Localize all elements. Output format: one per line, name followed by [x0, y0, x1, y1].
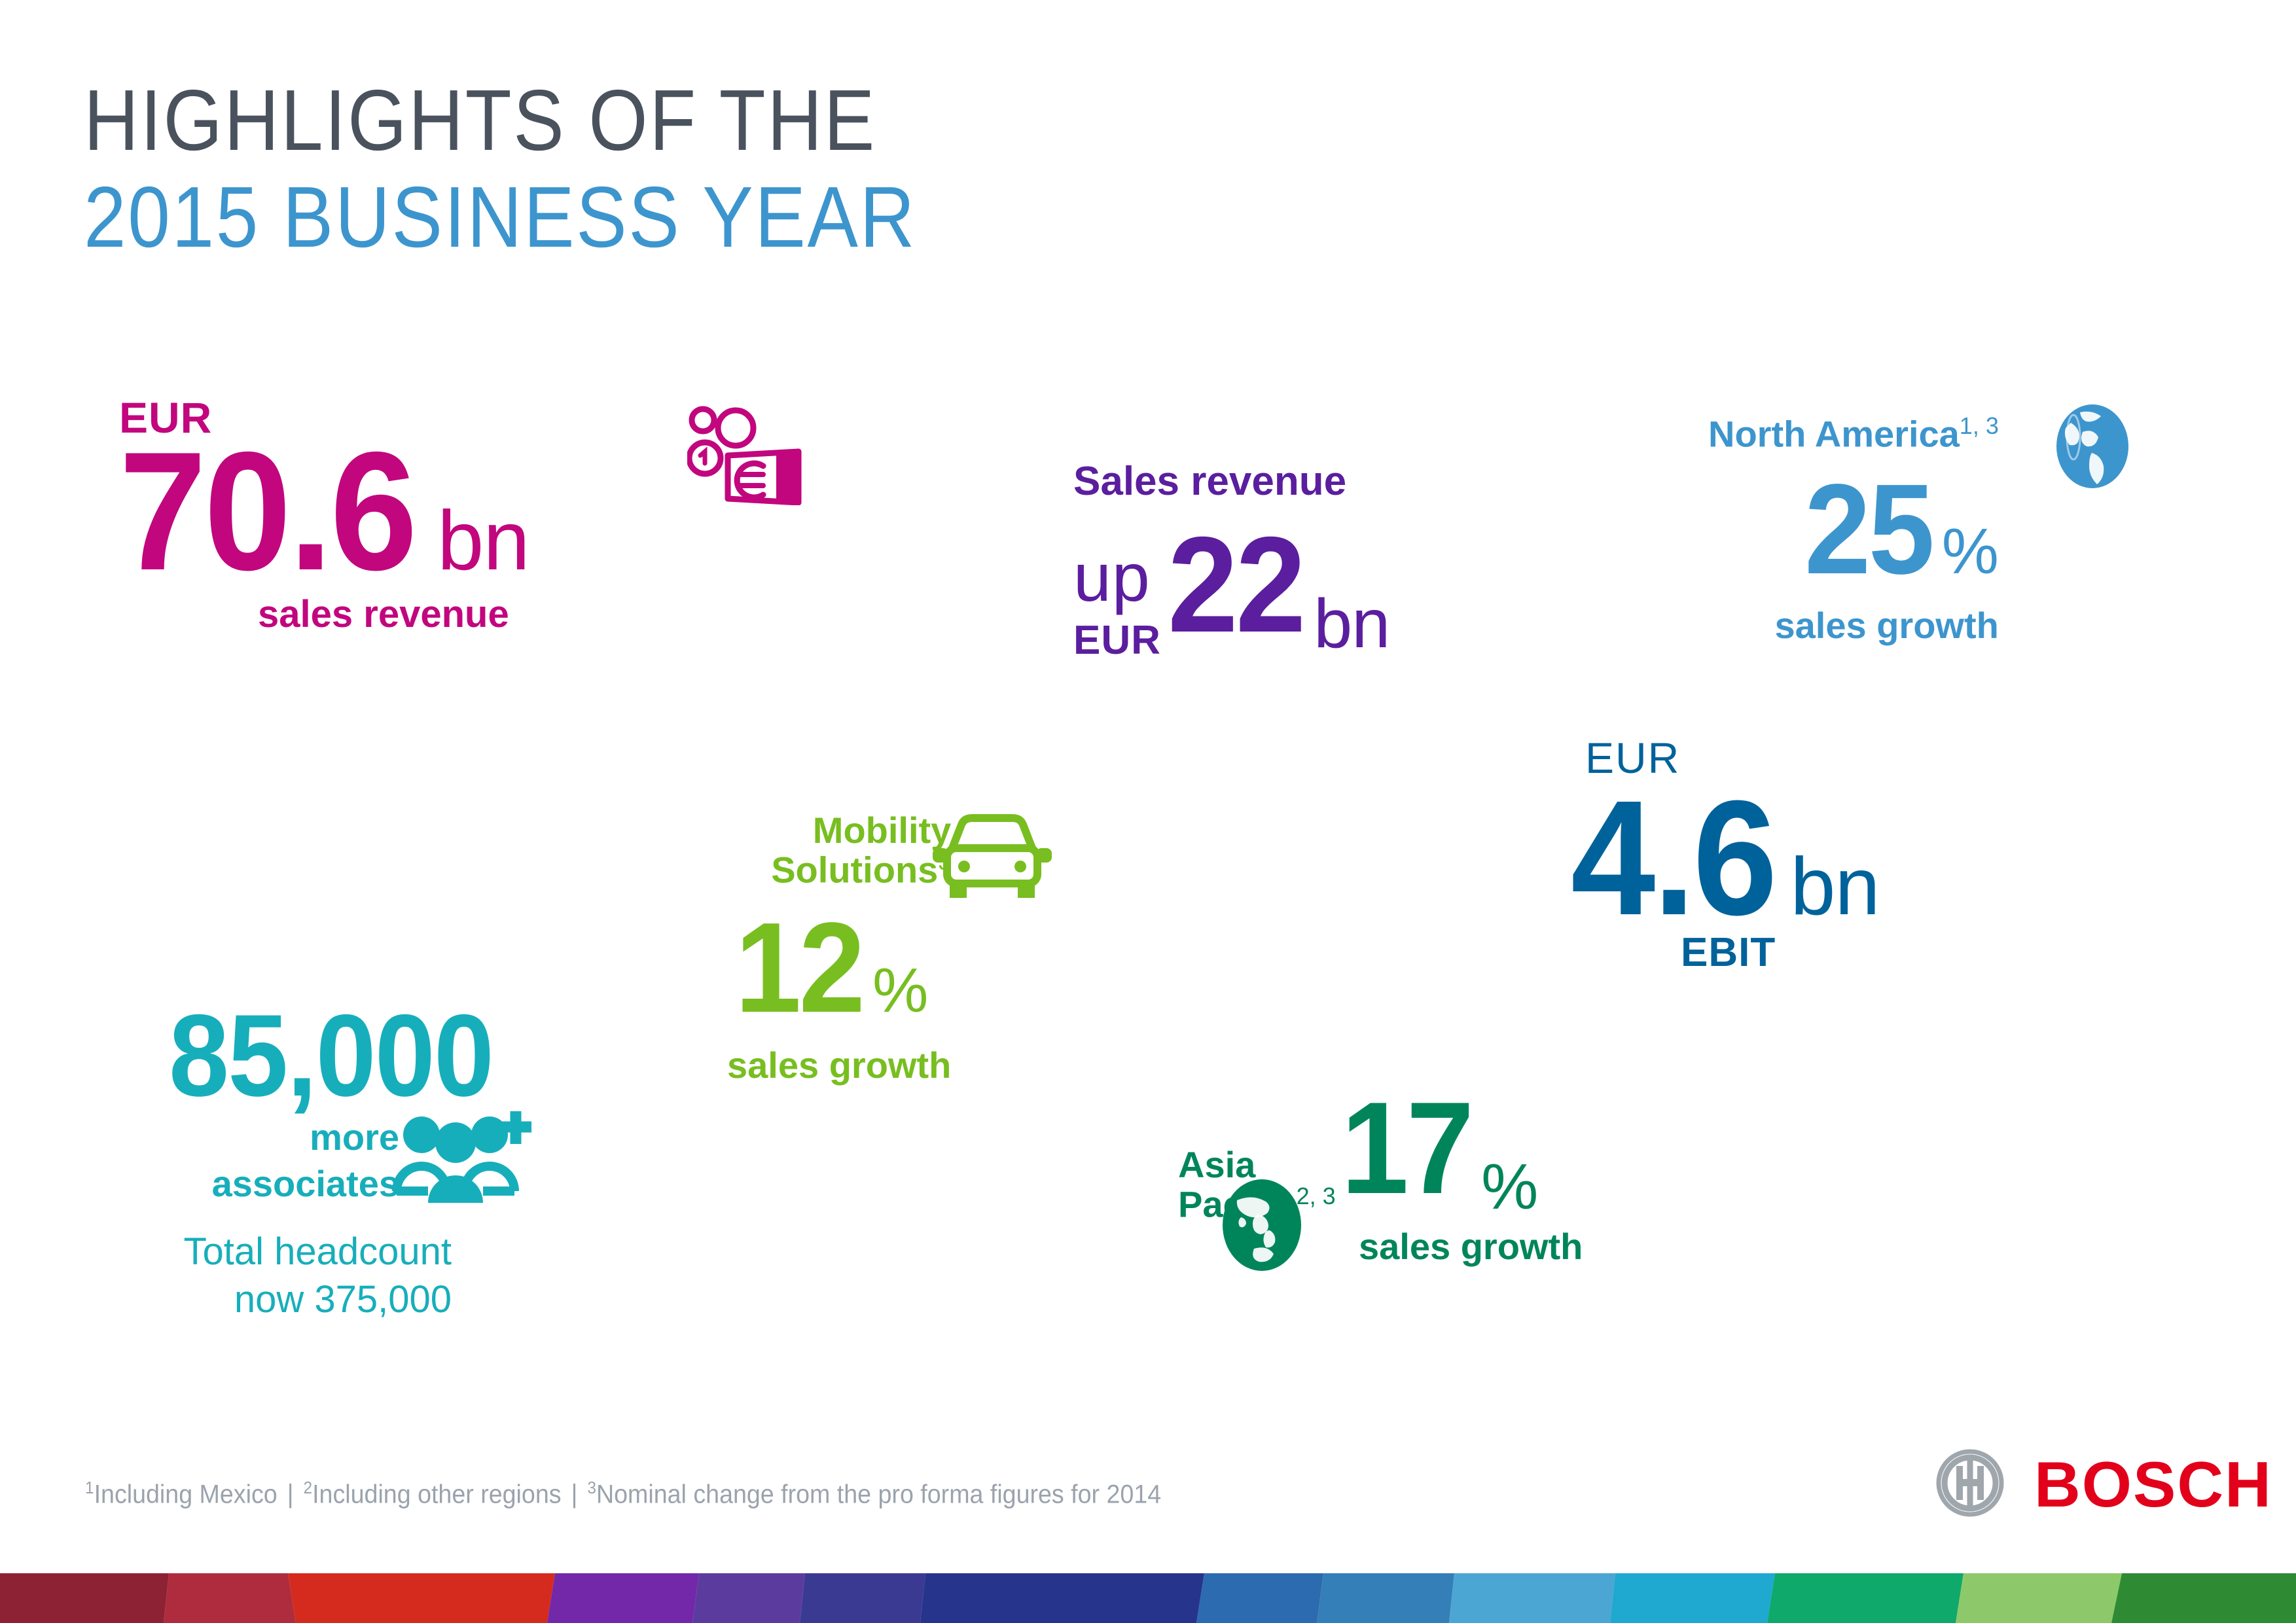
asia-pacific-caption: sales growth: [1359, 1225, 1583, 1268]
globe-americas-icon: [2054, 403, 2131, 493]
mobility-value-row: 12 %: [735, 894, 951, 1041]
supergraphic-band: [547, 1573, 699, 1623]
associates-subtext-line-2: now 375,000: [164, 1276, 452, 1324]
footnote-3-text: Nominal change from the pro forma figure…: [596, 1480, 1161, 1508]
ebit-unit: bn: [1791, 849, 1880, 924]
stat-associates: 85,000 more associates Total headcount n…: [137, 988, 517, 1323]
footnote-3-marker: 3: [587, 1478, 596, 1497]
bosch-armature-icon: [1936, 1449, 2004, 1520]
asia-pacific-value: 17: [1341, 1073, 1471, 1224]
associates-subtext: Total headcount now 375,000: [164, 1228, 452, 1323]
stat-asia-pacific: Asia Pacific2, 3 17 % sales growth: [1178, 1073, 1583, 1268]
north-america-value-row: 25 %: [1708, 455, 1999, 603]
ebit-value: 4.6: [1571, 783, 1775, 933]
supergraphic-band: [692, 1573, 805, 1623]
supergraphic-band: [0, 1573, 169, 1623]
footnote-separator-1: |: [278, 1480, 304, 1508]
north-america-label: North America: [1708, 414, 1960, 455]
revenue-up-grid: up EUR 22 bn: [1073, 507, 1390, 664]
ebit-value-row: 4.6 bn: [1571, 783, 1879, 933]
supergraphic-band: [164, 1573, 296, 1623]
page-title: HIGHLIGHTS OF THE 2015 BUSINESS YEAR: [84, 72, 1030, 266]
revenue-unit: bn: [437, 503, 529, 580]
stat-sales-revenue-up: Sales revenue up EUR 22 bn: [1073, 458, 1390, 664]
supergraphic-band: [2111, 1573, 2296, 1623]
bosch-logo: BOSCH: [1936, 1448, 2272, 1522]
title-line-1: HIGHLIGHTS OF THE: [84, 72, 916, 169]
footnote-1-marker: 1: [85, 1478, 94, 1497]
revenue-up-value: 22: [1168, 507, 1304, 664]
footnotes: 1Including Mexico|2Including other regio…: [85, 1478, 1161, 1509]
supergraphic-band: [1610, 1573, 1775, 1623]
mobility-heading-line-2-text: Solutions: [771, 849, 938, 890]
revenue-up-eur-label: EUR: [1073, 617, 1161, 664]
mobility-value: 12: [735, 894, 863, 1041]
supergraphic-band: [1449, 1573, 1615, 1623]
title-line-2: 2015 BUSINESS YEAR: [84, 169, 916, 266]
car-icon: [930, 808, 1054, 909]
revenue-value-row: 70.6 bn: [119, 433, 529, 588]
north-america-unit: %: [1942, 514, 1999, 588]
supergraphic-band: [1956, 1573, 2122, 1623]
supergraphic-band: [1196, 1573, 1323, 1623]
north-america-value: 25: [1804, 455, 1932, 603]
mobility-unit: %: [872, 955, 928, 1027]
supergraphic-bar: [0, 1573, 2296, 1623]
stat-sales-revenue: EUR 70.6 bn sales revenue: [119, 393, 529, 636]
revenue-up-left-stack: up EUR: [1073, 539, 1161, 664]
associates-label-line-2: associates: [137, 1162, 399, 1205]
money-icon: [687, 406, 804, 508]
stat-north-america: North America1, 3 25 % sales growth: [1708, 412, 1999, 647]
mobility-heading: Mobility Solutions3: [704, 811, 951, 889]
supergraphic-band: [288, 1573, 555, 1623]
revenue-up-heading: Sales revenue: [1073, 458, 1390, 505]
footnote-separator-2: |: [562, 1480, 588, 1508]
mobility-caption: sales growth: [727, 1044, 951, 1086]
north-america-footnote-ref: 1, 3: [1960, 412, 1999, 439]
people-group-plus-icon: [391, 1107, 533, 1211]
revenue-up-word: up: [1073, 539, 1151, 617]
footnote-2-marker: 2: [304, 1478, 313, 1497]
footnote-2-text: Including other regions: [312, 1480, 561, 1508]
infographic-page: HIGHLIGHTS OF THE 2015 BUSINESS YEAR EUR…: [0, 0, 2296, 1623]
supergraphic-band: [1317, 1573, 1454, 1623]
revenue-up-unit: bn: [1314, 584, 1390, 664]
stat-ebit: EUR 4.6 bn EBIT: [1571, 733, 1879, 976]
asia-pacific-unit: %: [1481, 1150, 1538, 1224]
associates-subtext-line-1: Total headcount: [164, 1228, 452, 1276]
north-america-caption: sales growth: [1708, 604, 1999, 647]
bosch-wordmark: BOSCH: [2034, 1448, 2272, 1522]
globe-asia-icon: [1219, 1177, 1305, 1277]
north-america-heading: North America1, 3: [1708, 412, 1999, 455]
stat-mobility-solutions: Mobility Solutions3 12 % sales growth: [704, 811, 951, 1086]
supergraphic-band: [1767, 1573, 1964, 1623]
footnote-1-text: Including Mexico: [94, 1480, 278, 1508]
mobility-heading-line-2: Solutions3: [704, 849, 951, 889]
revenue-value: 70.6: [119, 433, 415, 588]
supergraphic-band: [920, 1573, 1204, 1623]
supergraphic-bands: [0, 1573, 2296, 1623]
supergraphic-band: [800, 1573, 925, 1623]
associates-value: 85,000: [169, 988, 493, 1122]
mobility-heading-line-1: Mobility: [704, 811, 951, 849]
